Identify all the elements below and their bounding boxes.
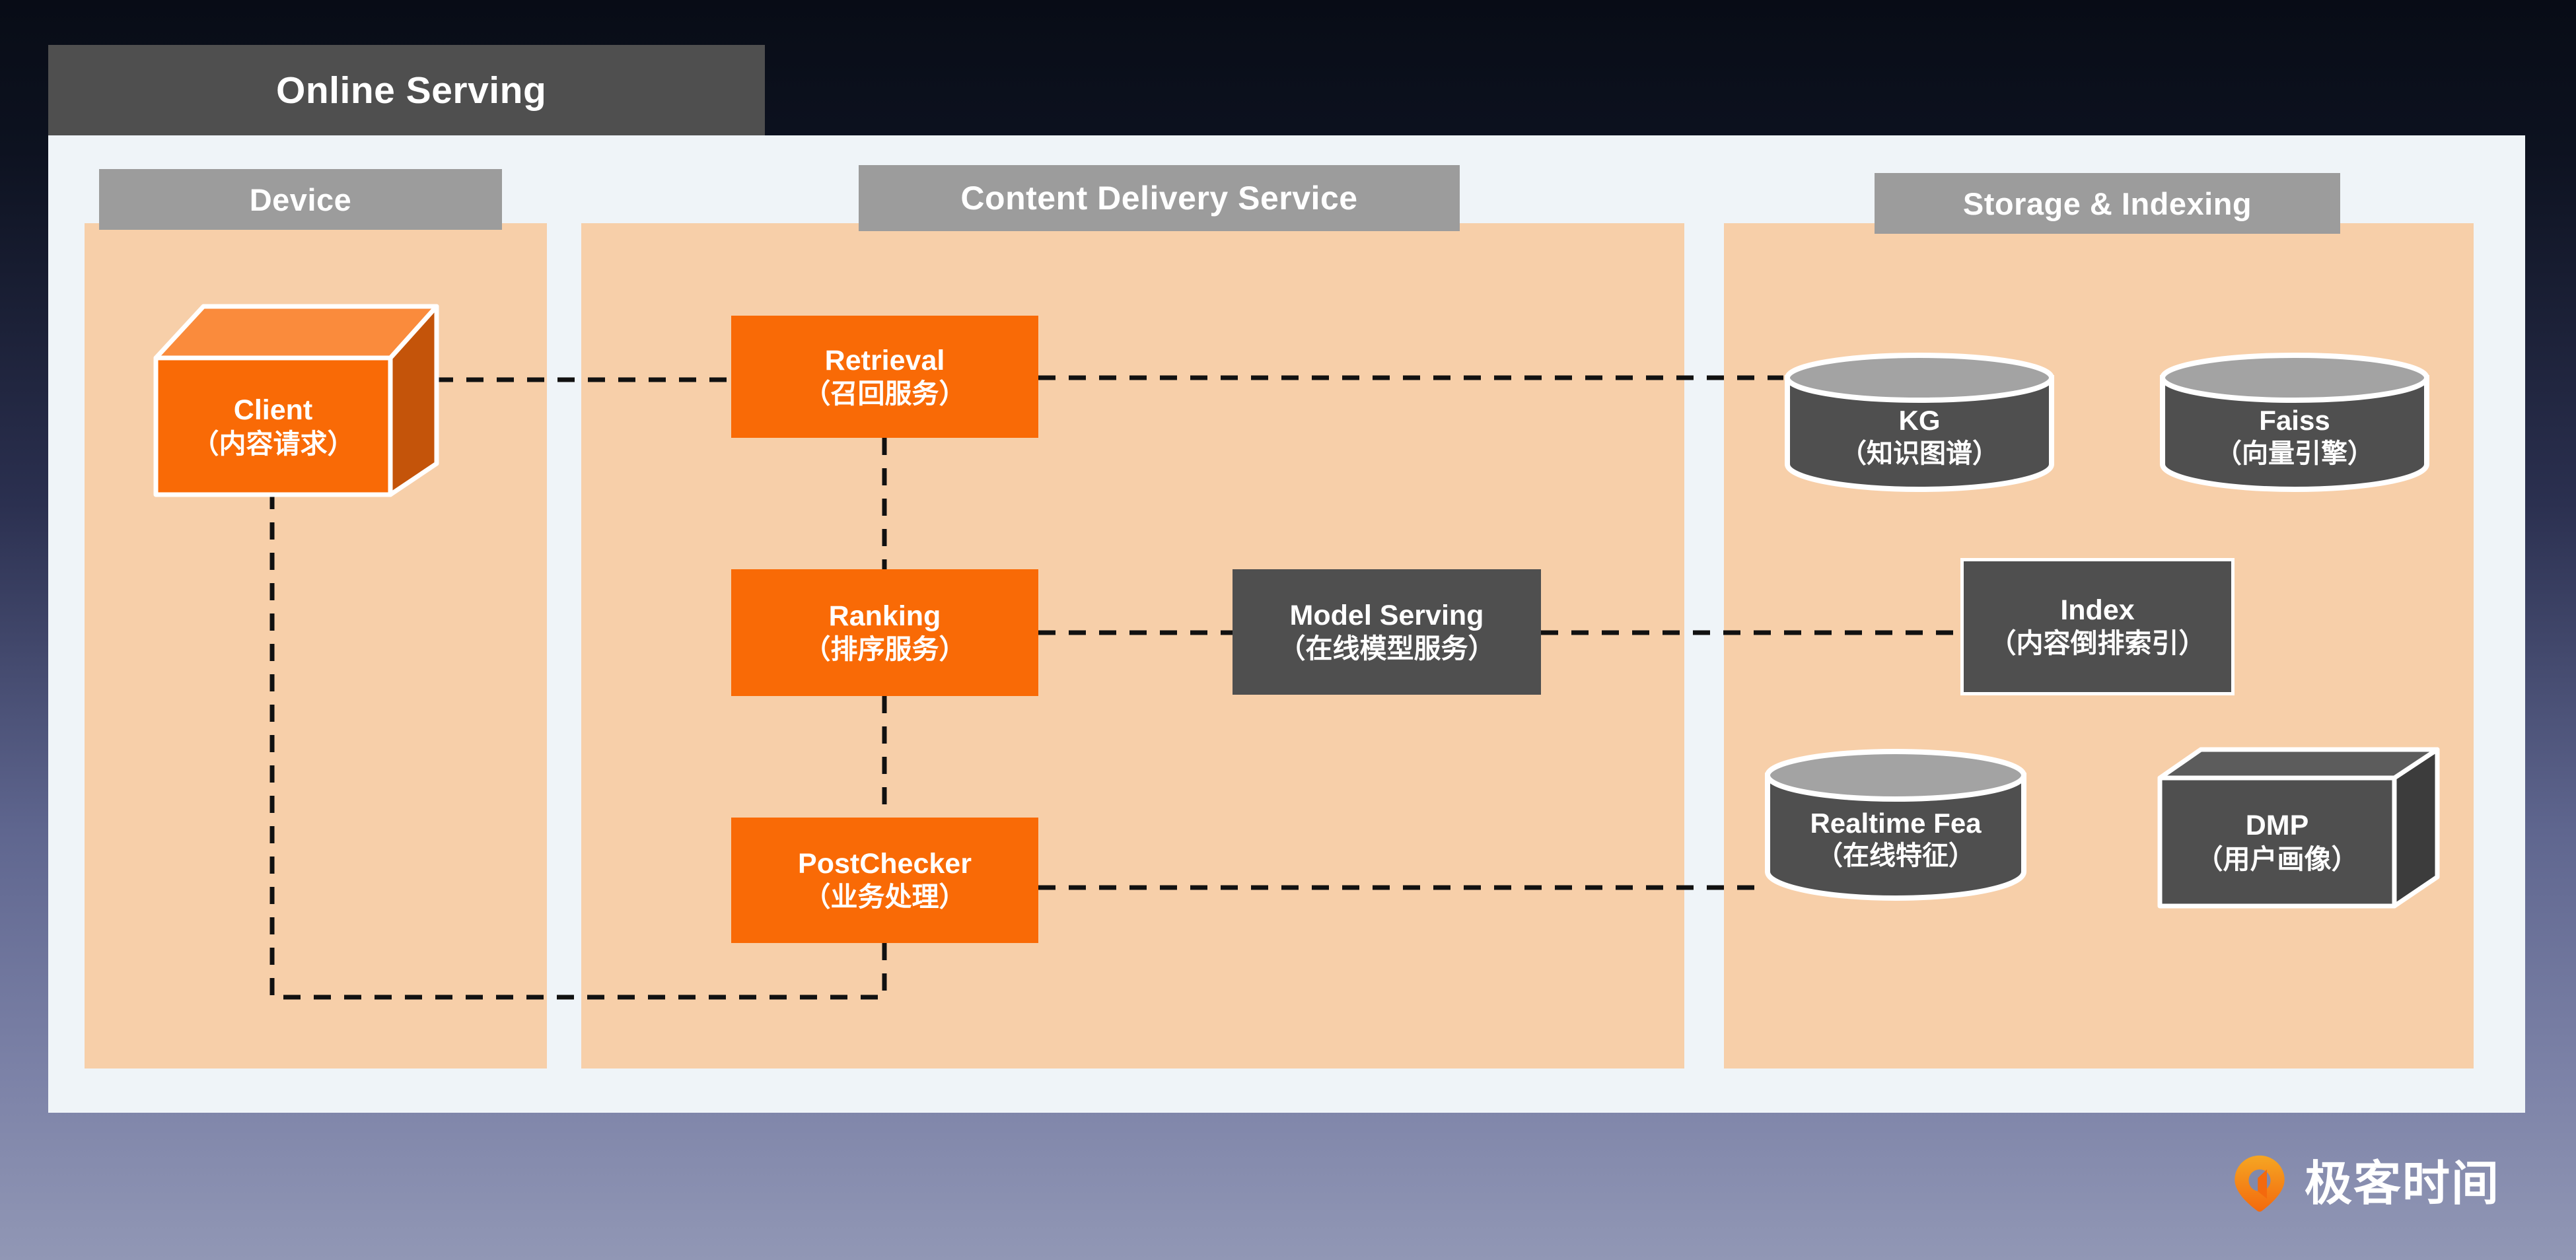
node-realtime-fea-label-en: Realtime Fea — [1810, 807, 1981, 840]
node-client-label: Client （内容请求） — [156, 359, 390, 495]
node-kg-label-cn: （知识图谱） — [1840, 438, 1999, 470]
node-faiss-label-cn: （向量引擎） — [2215, 438, 2374, 470]
node-index-label-en: Index — [2060, 594, 2134, 627]
node-faiss-label: Faiss （向量引擎） — [2159, 350, 2431, 492]
node-dmp[interactable]: DMP （用户画像） — [2160, 746, 2437, 908]
node-client[interactable]: Client （内容请求） — [156, 298, 437, 497]
node-dmp-label-cn: （用户画像） — [2196, 843, 2359, 876]
node-postchecker-label-en: PostChecker — [798, 847, 972, 881]
node-kg-label: KG （知识图谱） — [1783, 350, 2056, 492]
node-dmp-label-en: DMP — [2246, 809, 2309, 843]
node-postchecker[interactable]: PostChecker （业务处理） — [731, 818, 1038, 943]
node-faiss[interactable]: Faiss （向量引擎） — [2159, 350, 2431, 492]
node-client-label-cn: （内容请求） — [192, 428, 355, 460]
node-kg-label-en: KG — [1899, 404, 1941, 437]
node-ranking-label-cn: （排序服务） — [804, 633, 966, 665]
node-ranking-label-en: Ranking — [829, 600, 941, 633]
node-retrieval-label-en: Retrieval — [825, 344, 945, 378]
node-realtime-fea-label: Realtime Fea （在线特征） — [1764, 745, 2028, 902]
node-retrieval-label-cn: （召回服务） — [804, 378, 966, 409]
node-kg[interactable]: KG （知识图谱） — [1783, 350, 2056, 492]
page-title: Online Serving — [276, 69, 546, 112]
panel-header-storage-indexing: Storage & Indexing — [1875, 173, 2340, 234]
node-dmp-label: DMP （用户画像） — [2160, 778, 2394, 907]
node-faiss-label-en: Faiss — [2259, 404, 2330, 437]
panel-header-device: Device — [99, 169, 502, 230]
node-retrieval[interactable]: Retrieval （召回服务） — [731, 316, 1038, 438]
node-model-serving-label-cn: （在线模型服务） — [1279, 633, 1495, 664]
node-index[interactable]: Index （内容倒排索引） — [1960, 558, 2235, 695]
panel-header-content-delivery-service: Content Delivery Service — [859, 165, 1460, 231]
node-realtime-fea[interactable]: Realtime Fea （在线特征） — [1764, 745, 2028, 902]
node-index-label-cn: （内容倒排索引） — [1989, 627, 2206, 659]
node-model-serving[interactable]: Model Serving （在线模型服务） — [1233, 569, 1541, 695]
online-serving-title-bar: Online Serving — [48, 45, 765, 136]
node-model-serving-label-en: Model Serving — [1290, 599, 1484, 633]
geektime-wordmark: 极客时间 — [2305, 1160, 2500, 1208]
geektime-logo-icon — [2229, 1154, 2290, 1214]
node-ranking[interactable]: Ranking （排序服务） — [731, 569, 1038, 696]
node-client-label-en: Client — [234, 394, 312, 428]
geektime-logo: 极客时间 — [2229, 1146, 2540, 1222]
node-postchecker-label-cn: （业务处理） — [804, 881, 966, 913]
node-realtime-fea-label-cn: （在线特征） — [1816, 840, 1975, 872]
